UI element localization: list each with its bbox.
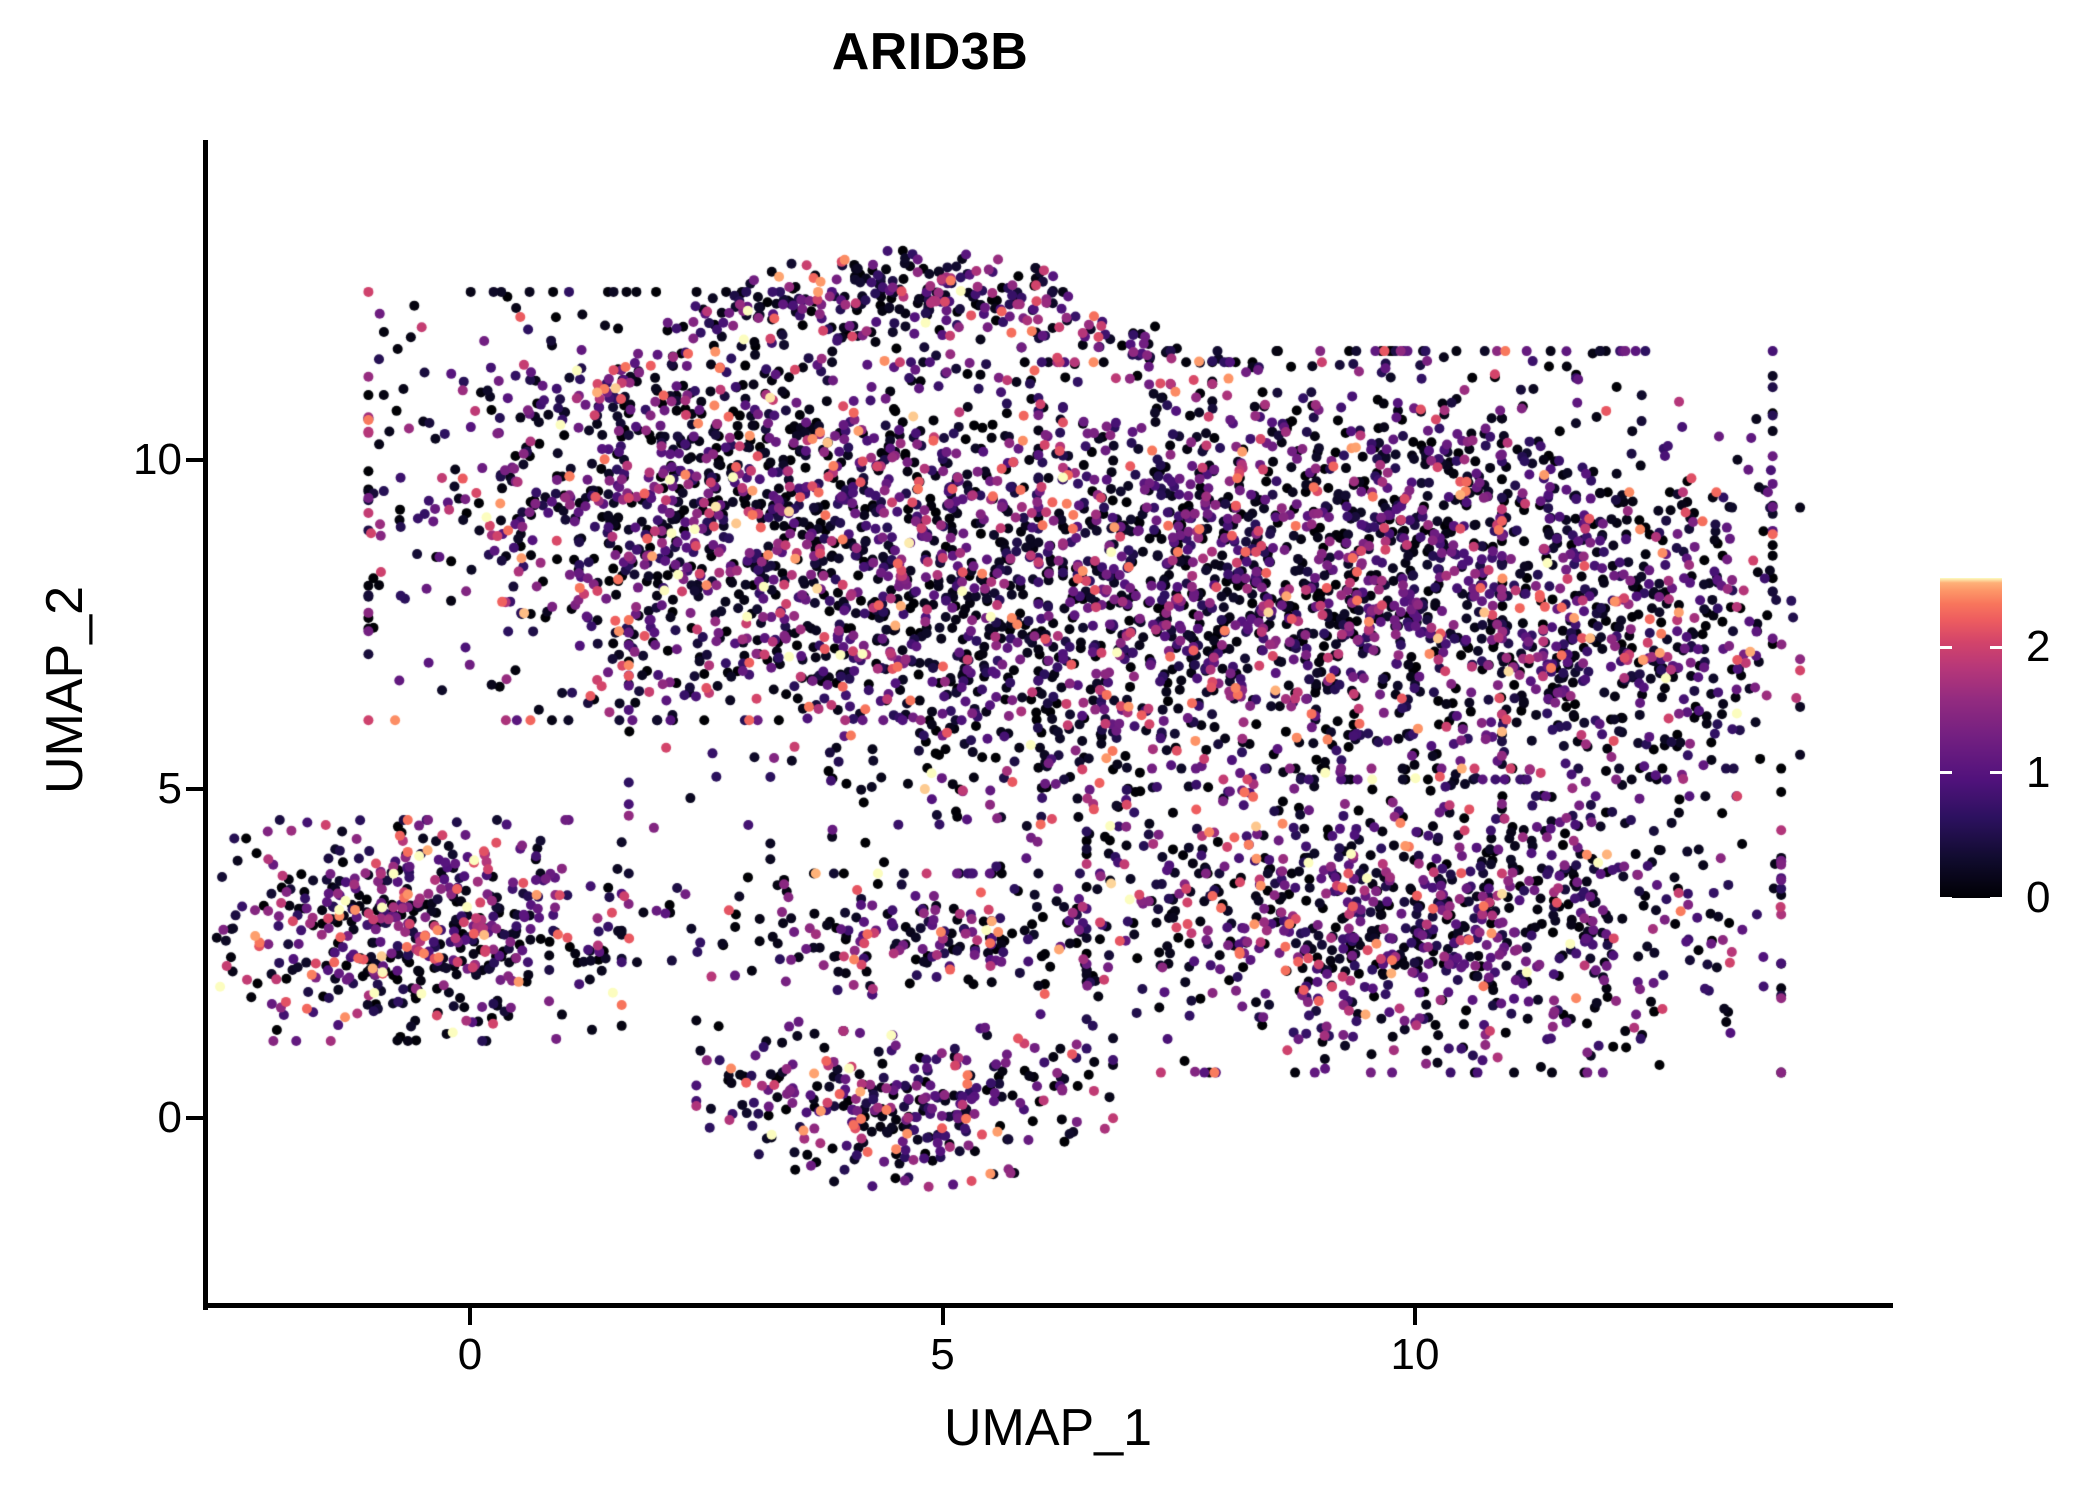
x-tick-label: 0 xyxy=(458,1330,482,1380)
legend-tick-label: 1 xyxy=(2026,748,2050,798)
legend-tick-mark xyxy=(1990,646,2002,649)
legend-tick-label: 0 xyxy=(2026,873,2050,923)
y-tick-mark xyxy=(186,458,204,462)
y-tick-mark xyxy=(186,787,204,791)
y-tick-label: 10 xyxy=(133,435,182,485)
y-axis-line xyxy=(203,140,208,1310)
legend-tick-mark xyxy=(1990,771,2002,774)
y-tick-label: 5 xyxy=(158,764,182,814)
x-tick-mark xyxy=(468,1307,472,1325)
legend-colorbar xyxy=(1940,578,2002,898)
y-axis-title: UMAP_2 xyxy=(35,340,95,1040)
legend-tick-mark xyxy=(1990,897,2002,900)
legend-tick-mark xyxy=(1940,771,1952,774)
y-tick-mark xyxy=(186,1116,204,1120)
x-tick-label: 5 xyxy=(930,1330,954,1380)
legend-tick-mark xyxy=(1940,897,1952,900)
umap-feature-plot: ARID3B 0510 0510 UMAP_1 UMAP_2 012 xyxy=(0,0,2100,1500)
x-tick-mark xyxy=(941,1307,945,1325)
x-axis-line xyxy=(203,1303,1893,1308)
legend-tick-mark xyxy=(1940,646,1952,649)
x-axis-title: UMAP_1 xyxy=(203,1398,1893,1458)
scatter-plot-canvas xyxy=(0,0,2100,1500)
x-tick-label: 10 xyxy=(1391,1330,1440,1380)
y-tick-label: 0 xyxy=(158,1093,182,1143)
legend-tick-label: 2 xyxy=(2026,622,2050,672)
x-tick-mark xyxy=(1413,1307,1417,1325)
